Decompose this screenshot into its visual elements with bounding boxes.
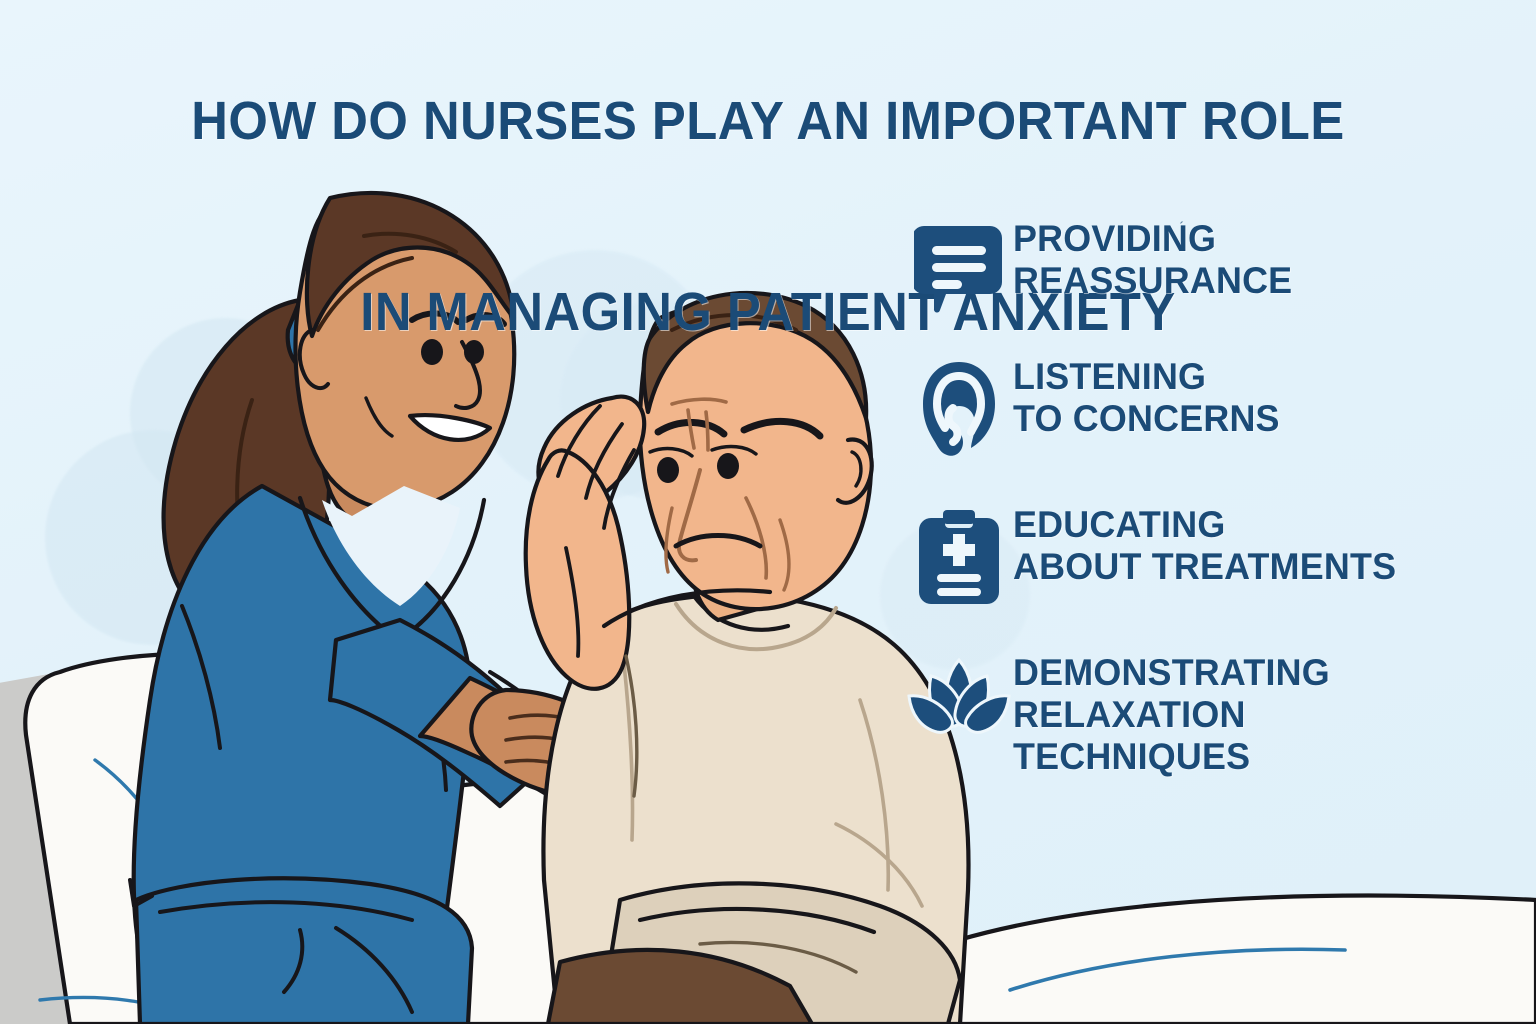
nurse-eye-left — [421, 339, 443, 365]
list-item[interactable]: EDUCATING ABOUT TREATMENTS — [905, 504, 1525, 606]
list-item-label: DEMONSTRATING RELAXATION TECHNIQUES — [1013, 652, 1330, 777]
ear-icon — [905, 356, 1013, 458]
list-item-label: LISTENING TO CONCERNS — [1013, 356, 1280, 440]
list-item[interactable]: PROVIDING REASSURANCE — [905, 218, 1525, 314]
roles-list: PROVIDING REASSURANCE LISTENING TO CONCE… — [905, 218, 1525, 819]
medical-clipboard-icon — [905, 504, 1013, 606]
list-item-label: EDUCATING ABOUT TREATMENTS — [1013, 504, 1396, 588]
patient-glabella-line — [706, 412, 708, 450]
patient-eye-right — [717, 453, 739, 479]
patient-eye-left — [657, 457, 679, 483]
infographic-canvas: HOW DO NURSES PLAY AN IMPORTANT ROLE IN … — [0, 0, 1536, 1024]
speech-bubble-icon — [905, 218, 1013, 314]
list-item[interactable]: DEMONSTRATING RELAXATION TECHNIQUES — [905, 652, 1525, 777]
lotus-flower-icon — [905, 652, 1013, 734]
list-item-label: PROVIDING REASSURANCE — [1013, 218, 1292, 302]
list-item[interactable]: LISTENING TO CONCERNS — [905, 356, 1525, 458]
